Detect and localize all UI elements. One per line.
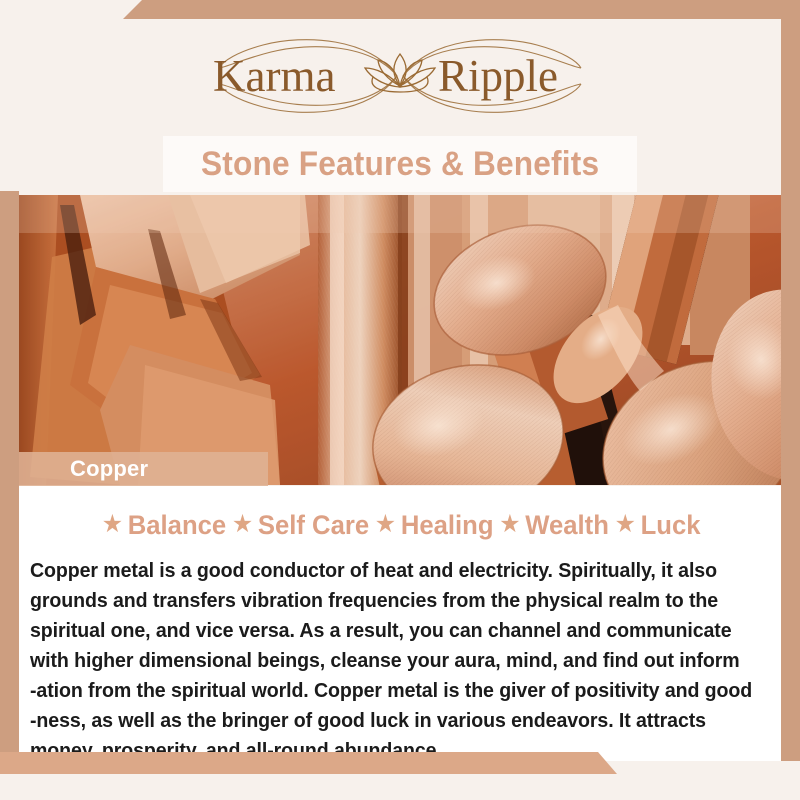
benefit-item-healing: Healing	[401, 512, 494, 539]
brand-name-left: Karma	[213, 51, 335, 101]
star-icon: ★	[614, 512, 635, 537]
description-line: Copper metal is a good conductor of heat…	[30, 556, 739, 586]
photo-caption-bar: Copper	[18, 452, 268, 486]
lotus-icon	[365, 54, 435, 92]
infographic-page: Karma Ripple Stone Features & Benefits	[0, 0, 800, 800]
star-icon: ★	[232, 512, 253, 537]
frame-left-border	[0, 191, 19, 774]
photo-caption-label: Copper	[70, 458, 148, 480]
benefits-row: ★ Balance ★ Self Care ★ Healing ★ Wealth…	[19, 506, 781, 544]
frame-bottom-background	[0, 774, 800, 800]
benefit-item-self-care: Self Care	[258, 512, 369, 539]
brand-name-right: Ripple	[438, 51, 558, 101]
description-line: with higher dimensional beings, cleanse …	[30, 646, 739, 676]
frame-right-border	[781, 19, 800, 761]
description-line: -ation from the spiritual world. Copper …	[30, 676, 739, 706]
description-line: -ness, as well as the bringer of good lu…	[30, 706, 739, 736]
benefit-item-wealth: Wealth	[525, 512, 609, 539]
copper-bars-photo	[0, 195, 800, 485]
brand-logo: Karma Ripple	[0, 22, 800, 130]
copper-bars-illustration	[0, 195, 800, 485]
star-icon: ★	[375, 512, 396, 537]
description-text: Copper metal is a good conductor of heat…	[30, 556, 772, 766]
brand-logo-svg: Karma Ripple	[185, 28, 615, 124]
description-line: grounds and transfers vibration frequenc…	[30, 586, 739, 616]
benefit-item-balance: Balance	[128, 512, 226, 539]
benefits-inner: ★ Balance ★ Self Care ★ Healing ★ Wealth…	[98, 512, 702, 539]
star-icon: ★	[102, 512, 123, 537]
frame-top-border	[0, 0, 800, 19]
benefit-item-luck: Luck	[640, 512, 700, 539]
page-title: Stone Features & Benefits	[201, 147, 599, 181]
star-icon: ★	[499, 512, 520, 537]
section-title-band: Stone Features & Benefits	[163, 136, 637, 192]
description-line: spiritual one, and vice versa. As a resu…	[30, 616, 739, 646]
